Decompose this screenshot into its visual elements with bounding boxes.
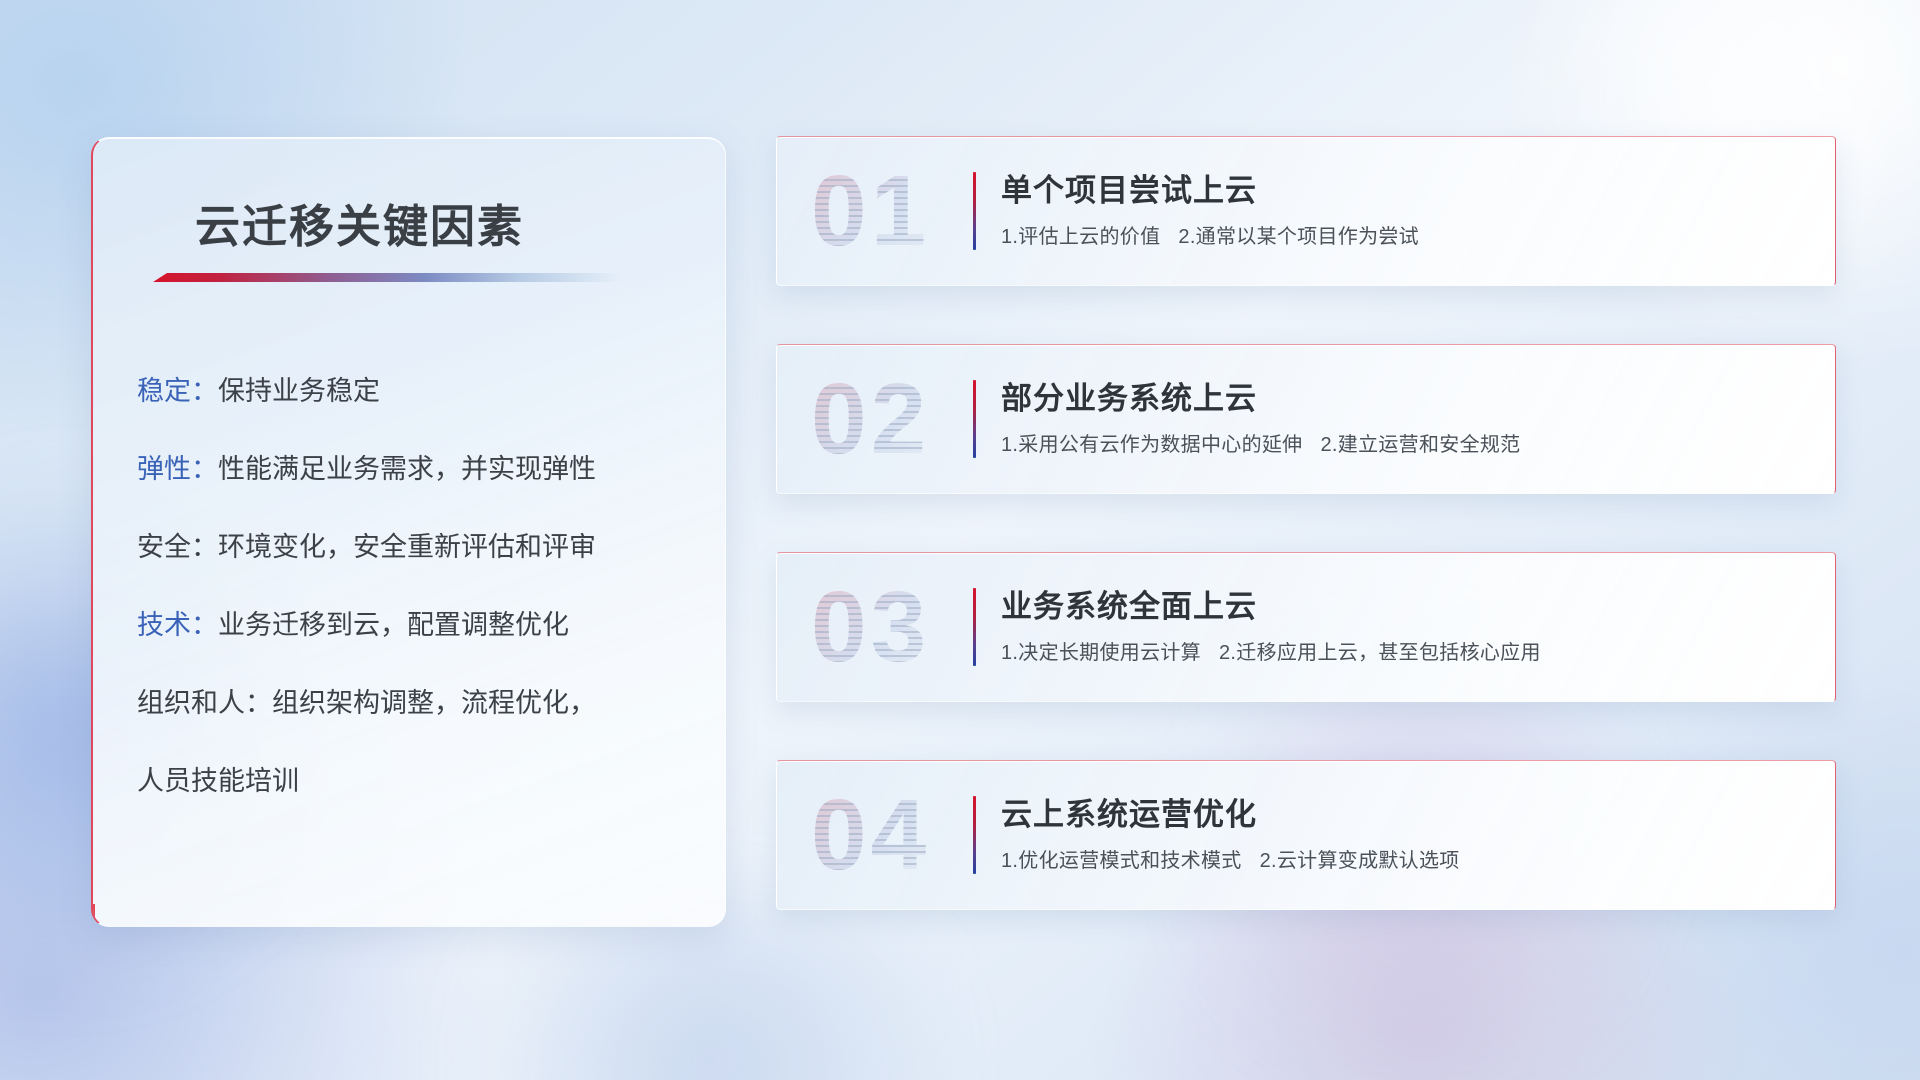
factor-item: 弹性：性能满足业务需求，并实现弹性 xyxy=(137,456,697,483)
factor-item: 技术：业务迁移到云，配置调整优化 xyxy=(137,612,697,639)
stage-number-watermark: 01 xyxy=(811,161,930,261)
card-description-part-1: 1.采用公有云作为数据中心的延伸 xyxy=(1001,434,1302,456)
card-accent-bar xyxy=(973,172,976,250)
card-description-part-1: 1.评估上云的价值 xyxy=(1001,226,1160,248)
stage-number-watermark: 02 xyxy=(811,369,930,469)
factor-label: 稳定： xyxy=(137,376,218,406)
factor-text: 组织架构调整，流程优化， xyxy=(272,688,596,718)
stage-number-watermark: 04 xyxy=(811,785,930,885)
card-title: 部分业务系统上云 xyxy=(1001,380,1809,419)
stage-number-watermark: 03 xyxy=(811,577,930,677)
card-description: 1.优化运营模式和技术模式2.云计算变成默认选项 xyxy=(1001,848,1809,874)
card-description-part-2: 2.迁移应用上云，甚至包括核心应用 xyxy=(1219,642,1541,664)
key-factors-panel: 云迁移关键因素 稳定：保持业务稳定弹性：性能满足业务需求，并实现弹性安全：环境变… xyxy=(91,137,726,927)
card-description-part-2: 2.云计算变成默认选项 xyxy=(1260,850,1460,872)
stage-card[interactable]: 03业务系统全面上云1.决定长期使用云计算2.迁移应用上云，甚至包括核心应用 xyxy=(776,552,1836,702)
factor-item: 人员技能培训 xyxy=(137,768,697,795)
stage-card[interactable]: 01单个项目尝试上云1.评估上云的价值2.通常以某个项目作为尝试 xyxy=(776,136,1836,286)
page-title: 云迁移关键因素 xyxy=(195,190,524,255)
card-description-part-2: 2.通常以某个项目作为尝试 xyxy=(1178,226,1419,248)
card-title: 单个项目尝试上云 xyxy=(1001,172,1809,211)
factor-item: 安全：环境变化，安全重新评估和评审 xyxy=(137,534,697,561)
factor-item: 稳定：保持业务稳定 xyxy=(137,378,697,405)
card-title: 云上系统运营优化 xyxy=(1001,796,1809,835)
card-description: 1.采用公有云作为数据中心的延伸2.建立运营和安全规范 xyxy=(1001,432,1809,458)
factor-text: 性能满足业务需求，并实现弹性 xyxy=(218,454,596,484)
factor-text: 人员技能培训 xyxy=(137,766,299,796)
stage-card[interactable]: 02部分业务系统上云1.采用公有云作为数据中心的延伸2.建立运营和安全规范 xyxy=(776,344,1836,494)
card-accent-bar xyxy=(973,380,976,458)
stage-card[interactable]: 04云上系统运营优化1.优化运营模式和技术模式2.云计算变成默认选项 xyxy=(776,760,1836,910)
card-body: 云上系统运营优化1.优化运营模式和技术模式2.云计算变成默认选项 xyxy=(1001,796,1809,874)
card-body: 部分业务系统上云1.采用公有云作为数据中心的延伸2.建立运营和安全规范 xyxy=(1001,380,1809,458)
background-bloom-bottom xyxy=(400,900,1020,1080)
factor-text: 环境变化，安全重新评估和评审 xyxy=(218,532,596,562)
stage-card-list: 01单个项目尝试上云1.评估上云的价值2.通常以某个项目作为尝试02部分业务系统… xyxy=(776,136,1836,910)
factor-label: 技术： xyxy=(137,610,218,640)
factor-list: 稳定：保持业务稳定弹性：性能满足业务需求，并实现弹性安全：环境变化，安全重新评估… xyxy=(137,378,697,795)
card-description-part-1: 1.决定长期使用云计算 xyxy=(1001,642,1201,664)
factor-label: 安全： xyxy=(137,532,218,562)
card-description-part-2: 2.建立运营和安全规范 xyxy=(1320,434,1520,456)
factor-text: 业务迁移到云，配置调整优化 xyxy=(218,610,569,640)
factor-item: 组织和人：组织架构调整，流程优化， xyxy=(137,690,697,717)
card-body: 业务系统全面上云1.决定长期使用云计算2.迁移应用上云，甚至包括核心应用 xyxy=(1001,588,1809,666)
factor-label: 弹性： xyxy=(137,454,218,484)
card-accent-bar xyxy=(973,588,976,666)
card-title: 业务系统全面上云 xyxy=(1001,588,1809,627)
slide-canvas: 云迁移关键因素 稳定：保持业务稳定弹性：性能满足业务需求，并实现弹性安全：环境变… xyxy=(0,0,1920,1080)
card-description: 1.评估上云的价值2.通常以某个项目作为尝试 xyxy=(1001,224,1809,250)
card-description: 1.决定长期使用云计算2.迁移应用上云，甚至包括核心应用 xyxy=(1001,640,1809,666)
card-body: 单个项目尝试上云1.评估上云的价值2.通常以某个项目作为尝试 xyxy=(1001,172,1809,250)
title-underline-accent xyxy=(153,273,623,282)
factor-text: 保持业务稳定 xyxy=(218,376,380,406)
factor-label: 组织和人： xyxy=(137,688,272,718)
card-description-part-1: 1.优化运营模式和技术模式 xyxy=(1001,850,1242,872)
card-accent-bar xyxy=(973,796,976,874)
